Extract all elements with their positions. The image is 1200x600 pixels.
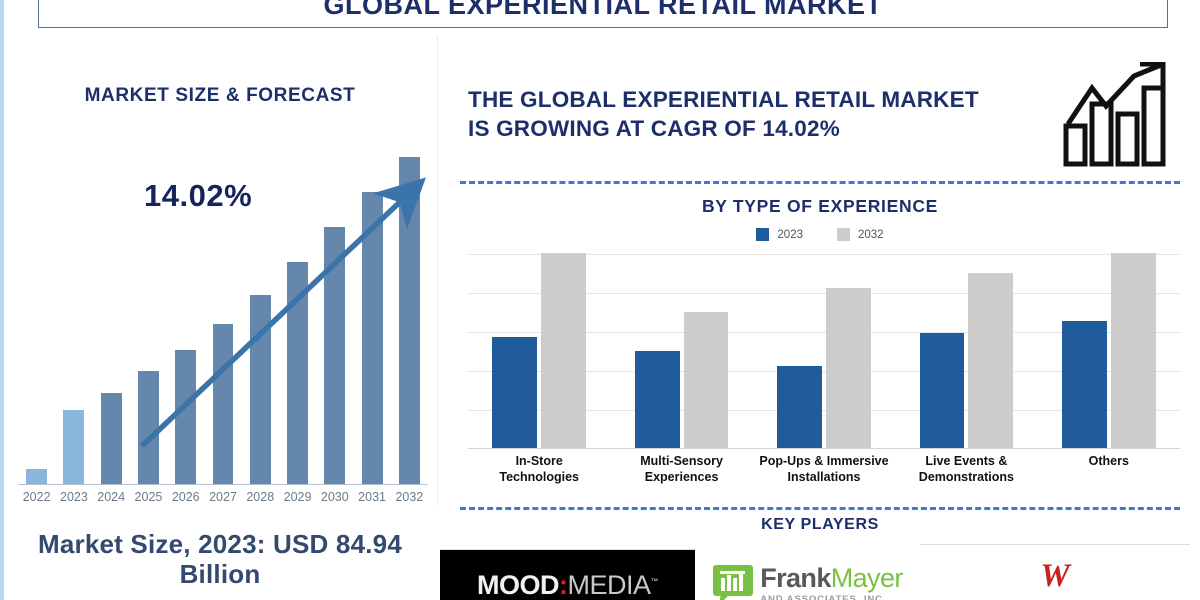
- chart-legend: 20232032: [440, 228, 1200, 241]
- key-players-logos: MOOD:MEDIA™ FrankM: [440, 540, 1200, 600]
- bar-2030: [324, 227, 345, 484]
- category-label: Others: [1026, 454, 1192, 470]
- year-label-2031: 2031: [358, 490, 386, 504]
- right-panel: THE GLOBAL EXPERIENTIAL RETAIL MARKET IS…: [440, 30, 1200, 600]
- year-label-2025: 2025: [135, 490, 163, 504]
- bar-2029: [287, 262, 308, 484]
- left-panel: MARKET SIZE & FORECAST 14.02% 2022202320…: [4, 40, 436, 600]
- market-size-callout: Market Size, 2023: USD 84.94 Billion: [4, 530, 436, 590]
- unibail-rodamco-westfield-logo: W UNIBAIL-RODAMCO-WESTFIELD: [920, 544, 1190, 600]
- by-type-heading: BY TYPE OF EXPERIENCE: [440, 196, 1200, 217]
- bar-2024: [101, 393, 122, 484]
- year-label-2030: 2030: [321, 490, 349, 504]
- bar-2027: [213, 324, 234, 484]
- legend-label: 2023: [777, 229, 803, 241]
- bar-2022: [26, 469, 47, 484]
- year-label-2026: 2026: [172, 490, 200, 504]
- bar-2032-in-store-technologies: [541, 253, 586, 448]
- year-label-2029: 2029: [284, 490, 312, 504]
- legend-swatch-icon: [756, 228, 769, 241]
- year-label-2027: 2027: [209, 490, 237, 504]
- bar-2023-in-store-technologies: [492, 337, 537, 448]
- panel-divider: [437, 35, 438, 505]
- logo-cell-mood-media: MOOD:MEDIA™: [440, 540, 695, 600]
- bar-2023-live-events-demonstrations: [920, 333, 965, 448]
- bar-2025: [138, 371, 159, 484]
- infographic-page: GLOBAL EXPERIENTIAL RETAIL MARKET MARKET…: [0, 0, 1200, 600]
- legend-item-2032[interactable]: 2032: [837, 228, 884, 241]
- chart-baseline: [18, 484, 428, 485]
- bar-2023-pop-ups-immersive-installations: [777, 366, 822, 448]
- market-size-forecast-chart: [18, 140, 428, 485]
- mood-media-part-a: MOOD: [477, 570, 559, 600]
- bar-2023: [63, 410, 84, 484]
- frank-mayer-part-b: Mayer: [831, 563, 903, 593]
- year-label-2024: 2024: [97, 490, 125, 504]
- bar-2032-pop-ups-immersive-installations: [826, 288, 871, 448]
- divider-bottom: [460, 507, 1180, 510]
- bar-2028: [250, 295, 271, 484]
- category-axis: In-StoreTechnologiesMulti-SensoryExperie…: [468, 454, 1180, 502]
- year-label-2023: 2023: [60, 490, 88, 504]
- urw-w-mark: W: [1040, 561, 1069, 592]
- legend-item-2023[interactable]: 2023: [756, 228, 803, 241]
- logo-cell-unibail-rodamco-westfield: W UNIBAIL-RODAMCO-WESTFIELD: [920, 540, 1190, 600]
- frank-mayer-logo: FrankMayer AND ASSOCIATES, INC.: [695, 546, 920, 600]
- cagr-statement: THE GLOBAL EXPERIENTIAL RETAIL MARKET IS…: [468, 85, 988, 144]
- frank-mayer-wordmark: FrankMayer AND ASSOCIATES, INC.: [760, 565, 903, 600]
- bar-2032-live-events-demonstrations: [968, 273, 1013, 449]
- bar-chart-growth-icon: [1062, 62, 1172, 167]
- legend-swatch-icon: [837, 228, 850, 241]
- mood-media-wordmark: MOOD:MEDIA™: [477, 570, 658, 600]
- logo-cell-frank-mayer: FrankMayer AND ASSOCIATES, INC.: [695, 540, 920, 600]
- year-label-2028: 2028: [246, 490, 274, 504]
- frank-mayer-subtitle: AND ASSOCIATES, INC.: [760, 595, 903, 600]
- chart-baseline: [468, 448, 1180, 449]
- bar-2032-multi-sensory-experiences: [684, 312, 729, 449]
- bar-2031: [362, 192, 383, 484]
- bar-2026: [175, 350, 196, 484]
- mood-media-part-b: MEDIA: [567, 570, 650, 600]
- key-players-heading: KEY PLAYERS: [440, 516, 1200, 534]
- frank-mayer-speech-bubble-icon: [712, 564, 754, 600]
- page-title: GLOBAL EXPERIENTIAL RETAIL MARKET: [323, 0, 882, 27]
- by-type-of-experience-chart: [468, 254, 1180, 449]
- bar-2023-others: [1062, 321, 1107, 448]
- mood-media-logo: MOOD:MEDIA™: [440, 549, 695, 600]
- year-label-2032: 2032: [395, 490, 423, 504]
- frank-mayer-part-a: Frank: [760, 563, 831, 593]
- year-label-2022: 2022: [23, 490, 51, 504]
- bar-2032-others: [1111, 253, 1156, 448]
- legend-label: 2032: [858, 229, 884, 241]
- divider-top: [460, 181, 1180, 184]
- trademark-icon: ™: [651, 577, 659, 586]
- market-size-forecast-heading: MARKET SIZE & FORECAST: [4, 85, 436, 107]
- bar-2032: [399, 157, 420, 484]
- forecast-year-axis: 2022202320242025202620272028202920302031…: [18, 490, 428, 510]
- bar-2023-multi-sensory-experiences: [635, 351, 680, 449]
- title-bar: GLOBAL EXPERIENTIAL RETAIL MARKET: [38, 0, 1168, 28]
